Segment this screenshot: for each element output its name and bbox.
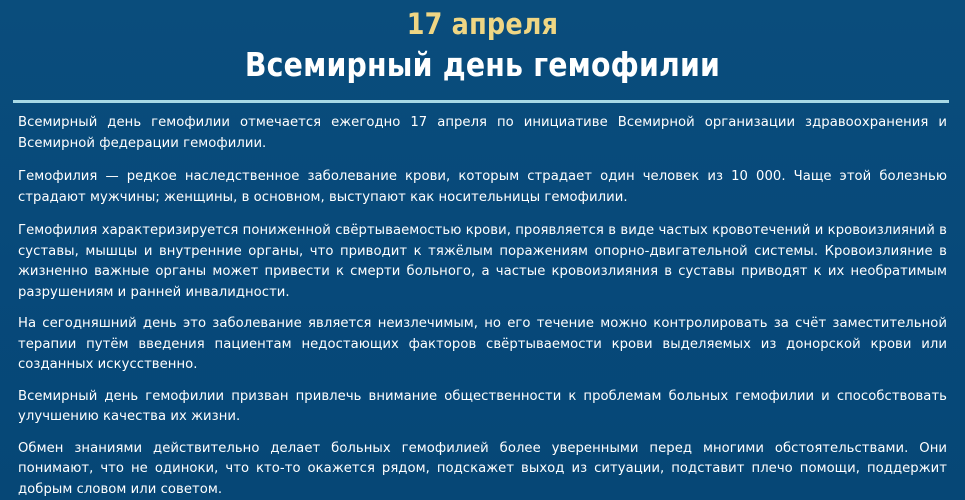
poster-root: 17 апреля Всемирный день гемофилии Всеми… bbox=[0, 0, 965, 500]
paragraph: Гемофилия характеризируется пониженной с… bbox=[18, 221, 947, 303]
poster-header: 17 апреля Всемирный день гемофилии bbox=[0, 0, 965, 84]
paragraph: Гемофилия — редкое наследственное заболе… bbox=[18, 167, 947, 208]
header-date: 17 апреля bbox=[58, 9, 907, 40]
paragraph: Обмен знаниями действительно делает боль… bbox=[18, 439, 947, 500]
header-divider bbox=[13, 100, 949, 103]
page-title: Всемирный день гемофилии bbox=[68, 46, 898, 84]
paragraph: На сегодняшний день это заболевание явля… bbox=[18, 314, 947, 376]
paragraph: Всемирный день гемофилии призван привлеч… bbox=[18, 387, 947, 428]
paragraph: Всемирный день гемофилии отмечается ежег… bbox=[18, 113, 947, 154]
body-content: Всемирный день гемофилии отмечается ежег… bbox=[18, 113, 947, 500]
